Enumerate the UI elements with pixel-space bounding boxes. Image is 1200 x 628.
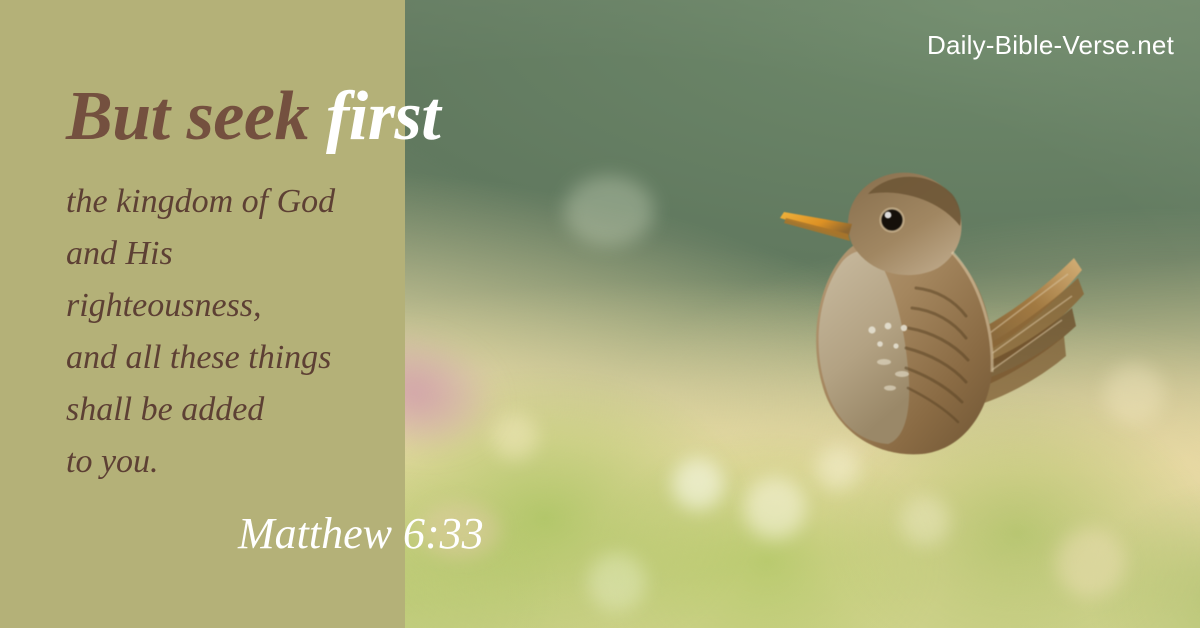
bokeh-highlight [1104, 364, 1164, 424]
bokeh-highlight [420, 502, 500, 558]
bokeh-highlight [564, 176, 654, 246]
bokeh-highlight [588, 553, 646, 611]
verse-card: But seek first the kingdom of God and Hi… [0, 0, 1200, 628]
site-watermark: Daily-Bible-Verse.net [927, 30, 1174, 61]
bokeh-highlight [900, 496, 950, 546]
text-panel [0, 0, 405, 628]
bokeh-highlight [1056, 528, 1126, 598]
wren-bird [756, 138, 1086, 478]
bokeh-highlight [744, 477, 806, 539]
